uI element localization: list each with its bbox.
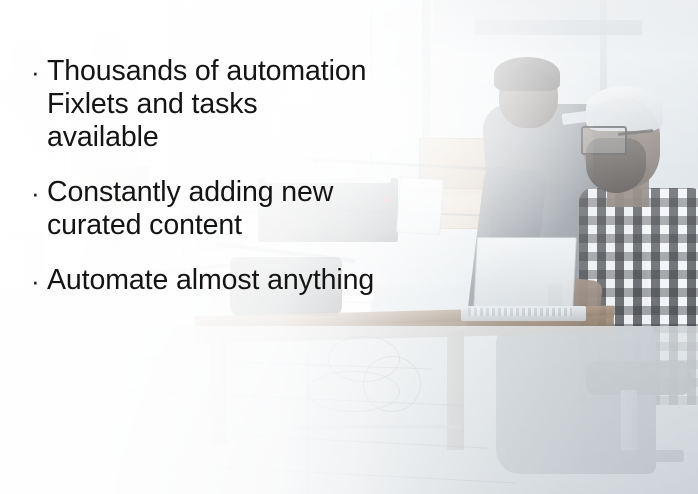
bullet-text-2: Constantly adding new curated content	[47, 176, 431, 242]
bullet-text-1: Thousands of automation Fixlets and task…	[47, 55, 431, 154]
slide-canvas: · Thousands of automation Fixlets and ta…	[0, 0, 698, 494]
slide-content: · Thousands of automation Fixlets and ta…	[0, 0, 698, 494]
bullet-dot-icon: ·	[31, 265, 47, 298]
bullet-item-3: · Automate almost anything	[31, 264, 431, 298]
bullet-item-1: · Thousands of automation Fixlets and ta…	[31, 55, 431, 154]
bullet-dot-icon: ·	[31, 56, 47, 89]
bullet-item-2: · Constantly adding new curated content	[31, 176, 431, 242]
bullet-dot-icon: ·	[31, 177, 47, 210]
bullet-text-3: Automate almost anything	[47, 264, 431, 297]
bullet-list: · Thousands of automation Fixlets and ta…	[31, 55, 431, 298]
